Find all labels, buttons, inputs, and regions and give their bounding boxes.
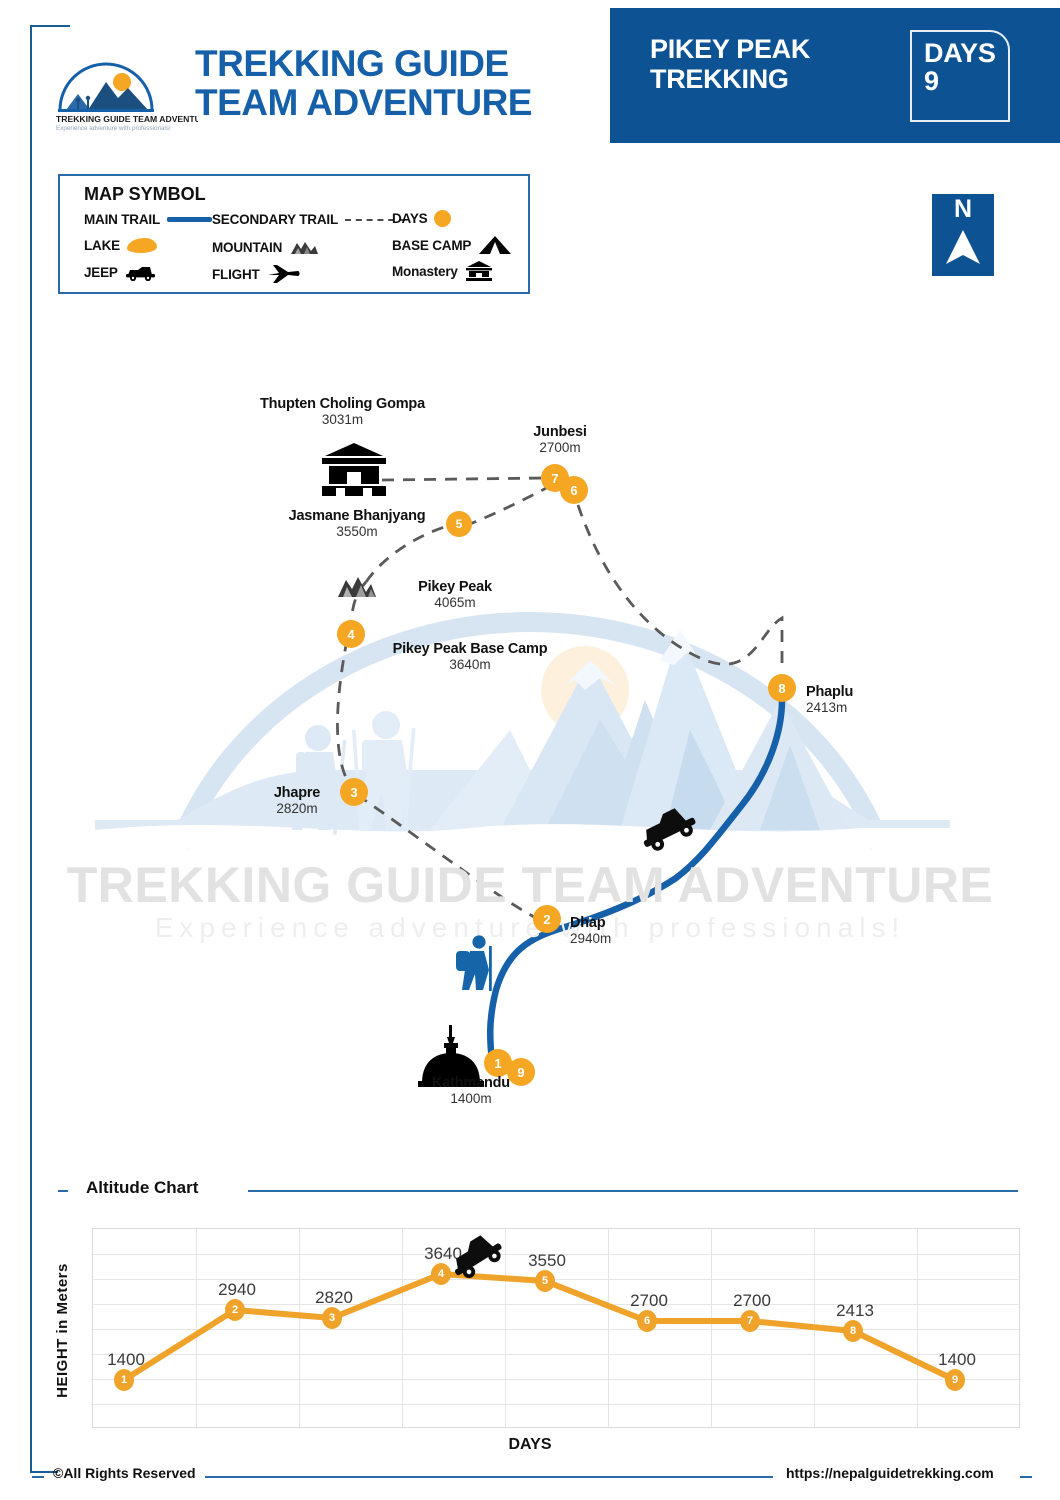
place-name: Jasmane Bhanjyang bbox=[212, 508, 502, 524]
footer-tick-right bbox=[1020, 1476, 1032, 1478]
place-name: Dhap bbox=[570, 915, 611, 931]
tent-icon bbox=[478, 234, 512, 256]
place-label-jhapre: Jhapre 2820m bbox=[252, 785, 342, 816]
chart-value-9: 1400 bbox=[938, 1350, 976, 1370]
day-marker-2[interactable]: 2 bbox=[533, 905, 561, 933]
legend-label: DAYS bbox=[392, 211, 427, 226]
chart-value-8: 2413 bbox=[836, 1301, 874, 1321]
place-name: Pikey Peak bbox=[372, 579, 538, 595]
place-label-jasmane-bhanjyang: Jasmane Bhanjyang 3550m bbox=[212, 508, 502, 539]
place-label-dhap: Dhap 2940m bbox=[570, 915, 611, 946]
trek-name: PIKEY PEAK TREKKING bbox=[650, 34, 900, 94]
compass-north-indicator: N bbox=[932, 194, 994, 276]
legend-item-mountain: MOUNTAIN bbox=[212, 238, 319, 256]
legend-label: MAIN TRAIL bbox=[84, 212, 160, 227]
chart-value-1: 1400 bbox=[107, 1350, 145, 1370]
trek-banner: PIKEY PEAK TREKKING DAYS 9 bbox=[610, 8, 1060, 143]
watermark-line2: Experience adventure with professionals! bbox=[0, 912, 1060, 944]
day-marker-6[interactable]: 6 bbox=[560, 476, 588, 504]
place-name: Phaplu bbox=[806, 684, 853, 700]
chart-point-1: 1 bbox=[114, 1369, 134, 1391]
header: TREKKING GUIDE TEAM ADVENTURE Experience… bbox=[0, 0, 1060, 150]
place-label-kathmandu: Kathmandu 1400m bbox=[396, 1075, 546, 1106]
compass-label: N bbox=[932, 194, 994, 222]
footer-tick-left bbox=[32, 1476, 44, 1478]
chart-y-axis-label: HEIGHT in Meters bbox=[48, 1240, 76, 1420]
chart-point-8: 8 bbox=[843, 1320, 863, 1342]
chart-value-5: 3550 bbox=[528, 1251, 566, 1271]
jeep-icon bbox=[125, 264, 157, 281]
place-name: Jhapre bbox=[252, 785, 342, 801]
legend-label: MOUNTAIN bbox=[212, 240, 282, 255]
footer-rule bbox=[205, 1476, 773, 1478]
legend-item-jeep: JEEP bbox=[84, 264, 157, 281]
place-elevation: 3550m bbox=[212, 524, 502, 539]
airplane-icon bbox=[267, 264, 301, 284]
chart-value-6: 2700 bbox=[630, 1291, 668, 1311]
altitude-chart-plot: 1 2 3 4 5 6 7 8 9 1400 2940 2820 3640 35… bbox=[92, 1228, 1020, 1428]
y-axis-label-text: HEIGHT in Meters bbox=[54, 1263, 71, 1398]
chart-point-6: 6 bbox=[637, 1310, 657, 1332]
lake-blob-icon bbox=[127, 238, 157, 253]
chart-point-7: 7 bbox=[740, 1310, 760, 1332]
header-tick-left bbox=[58, 1190, 68, 1192]
legend-label: JEEP bbox=[84, 265, 118, 280]
north-arrow-icon bbox=[932, 222, 994, 270]
logo-name: TREKKING GUIDE TEAM ADVENTURE bbox=[56, 114, 198, 124]
day-marker-8[interactable]: 8 bbox=[768, 674, 796, 702]
chart-point-5: 5 bbox=[535, 1270, 555, 1292]
chart-title: Altitude Chart bbox=[86, 1178, 198, 1198]
chart-point-2: 2 bbox=[225, 1299, 245, 1321]
orange-dot-icon bbox=[434, 210, 451, 227]
legend-label: BASE CAMP bbox=[392, 238, 471, 253]
place-name: Pikey Peak Base Camp bbox=[340, 641, 600, 657]
trek-route-map[interactable]: TREKKING GUIDE TEAM ADVENTURE Experience… bbox=[0, 300, 1060, 1150]
chart-value-2: 2940 bbox=[218, 1280, 256, 1300]
place-elevation: 2413m bbox=[806, 700, 853, 715]
monastery-icon bbox=[465, 260, 493, 282]
brand-title-line1: TREKKING GUIDE bbox=[195, 45, 615, 84]
day-marker-3[interactable]: 3 bbox=[340, 778, 368, 806]
place-elevation: 2820m bbox=[252, 801, 342, 816]
chart-point-9: 9 bbox=[945, 1369, 965, 1391]
legend-label: LAKE bbox=[84, 238, 120, 253]
days-value: 9 bbox=[912, 69, 1008, 95]
chart-x-axis-label: DAYS bbox=[0, 1436, 1060, 1454]
mountain-icon bbox=[289, 238, 319, 256]
logo-tagline: Experience adventure with professionals! bbox=[56, 125, 171, 132]
days-badge: DAYS 9 bbox=[910, 30, 1010, 122]
trek-name-line2: TREKKING bbox=[650, 64, 900, 94]
map-legend: MAP SYMBOL MAIN TRAIL SECONDARY TRAIL DA… bbox=[58, 174, 530, 294]
footer: ©All Rights Reserved https://nepalguidet… bbox=[0, 1462, 1060, 1500]
place-name: Thupten Choling Gompa bbox=[160, 396, 525, 412]
place-label-junbesi: Junbesi 2700m bbox=[480, 424, 640, 455]
legend-label: SECONDARY TRAIL bbox=[212, 212, 338, 227]
legend-item-main-trail: MAIN TRAIL bbox=[84, 212, 212, 227]
website-url[interactable]: https://nepalguidetrekking.com bbox=[786, 1465, 994, 1481]
chart-point-3: 3 bbox=[322, 1307, 342, 1329]
place-elevation: 1400m bbox=[396, 1091, 546, 1106]
header-rule bbox=[248, 1190, 1018, 1192]
place-label-pikey-peak-base-camp: Pikey Peak Base Camp 3640m bbox=[340, 641, 600, 672]
place-elevation: 4065m bbox=[372, 595, 538, 610]
altitude-chart-header: Altitude Chart bbox=[58, 1178, 1018, 1204]
place-name: Kathmandu bbox=[396, 1075, 546, 1091]
legend-item-lake: LAKE bbox=[84, 238, 157, 253]
copyright-text: ©All Rights Reserved bbox=[53, 1465, 196, 1481]
place-label-thupten-choling-gompa: Thupten Choling Gompa 3031m bbox=[160, 396, 525, 427]
solid-line-icon bbox=[167, 217, 212, 222]
legend-title: MAP SYMBOL bbox=[84, 184, 206, 205]
place-elevation: 2700m bbox=[480, 440, 640, 455]
chart-value-7: 2700 bbox=[733, 1291, 771, 1311]
legend-item-base-camp: BASE CAMP bbox=[392, 234, 512, 256]
watermark-line1: TREKKING GUIDE TEAM ADVENTURE bbox=[0, 856, 1060, 914]
place-label-pikey-peak: Pikey Peak 4065m bbox=[372, 579, 538, 610]
legend-item-monastery: Monastery bbox=[392, 260, 493, 282]
place-elevation: 3031m bbox=[160, 412, 525, 427]
trek-name-line1: PIKEY PEAK bbox=[650, 34, 900, 64]
legend-item-secondary-trail: SECONDARY TRAIL bbox=[212, 212, 405, 227]
legend-item-flight: FLIGHT bbox=[212, 264, 301, 284]
legend-item-days: DAYS bbox=[392, 210, 451, 227]
place-name: Junbesi bbox=[480, 424, 640, 440]
legend-label: FLIGHT bbox=[212, 267, 260, 282]
brand-title-line2: TEAM ADVENTURE bbox=[195, 84, 615, 123]
page-title: TREKKING GUIDE TEAM ADVENTURE bbox=[195, 45, 615, 123]
place-elevation: 2940m bbox=[570, 931, 611, 946]
legend-label: Monastery bbox=[392, 264, 458, 279]
company-logo: TREKKING GUIDE TEAM ADVENTURE Experience… bbox=[48, 48, 198, 133]
place-elevation: 3640m bbox=[340, 657, 600, 672]
days-label: DAYS bbox=[912, 32, 1008, 69]
place-label-phaplu: Phaplu 2413m bbox=[806, 684, 853, 715]
chart-value-3: 2820 bbox=[315, 1288, 353, 1308]
